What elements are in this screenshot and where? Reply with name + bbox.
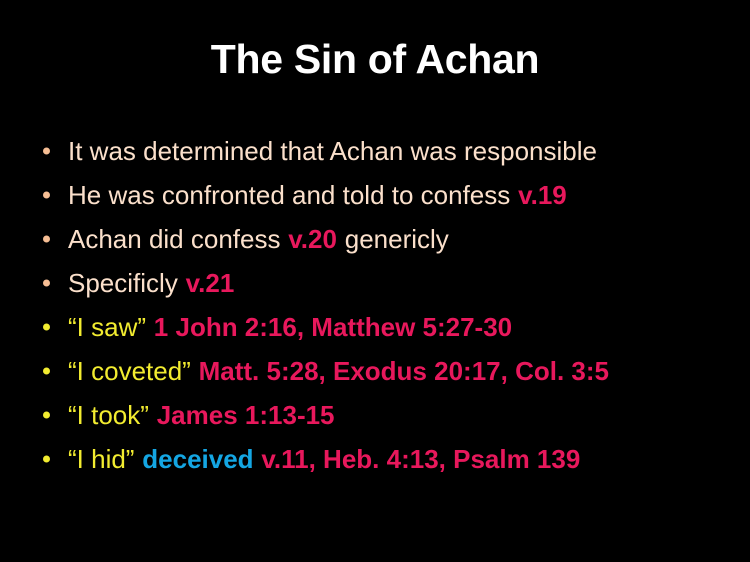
text-run-quote: “I coveted” [68, 356, 191, 386]
bullet-item: “I coveted” Matt. 5:28, Exodus 20:17, Co… [36, 349, 736, 393]
bullet-point-icon [43, 192, 50, 199]
bullet-item: “I hid” deceived v.11, Heb. 4:13, Psalm … [36, 437, 736, 481]
bullet-item: Achan did confess v.20 genericly [36, 217, 736, 261]
text-run-reference: Matt. 5:28, Exodus 20:17, Col. 3:5 [199, 356, 609, 386]
bullet-point-icon [43, 368, 50, 375]
text-run-body: He was confronted and told to confess [68, 180, 510, 210]
text-run-spacer [337, 224, 345, 254]
bullet-text: “I saw” 1 John 2:16, Matthew 5:27-30 [68, 312, 512, 342]
text-run-highlight: deceived [142, 444, 253, 474]
text-run-spacer [149, 400, 157, 430]
text-run-quote: “I saw” [68, 312, 146, 342]
bullet-item: Specificly v.21 [36, 261, 736, 305]
text-run-body: It was determined that Achan was respons… [68, 136, 597, 166]
text-run-body: genericly [345, 224, 449, 254]
bullet-list: It was determined that Achan was respons… [36, 129, 736, 481]
text-run-spacer [191, 356, 199, 386]
slide-title: The Sin of Achan [0, 34, 750, 84]
bullet-text: Achan did confess v.20 genericly [68, 224, 449, 254]
bullet-text: Specificly v.21 [68, 268, 234, 298]
bullet-point-icon [43, 236, 50, 243]
bullet-text: He was confronted and told to confess v.… [68, 180, 567, 210]
bullet-item: “I saw” 1 John 2:16, Matthew 5:27-30 [36, 305, 736, 349]
text-run-spacer [146, 312, 154, 342]
bullet-text: “I hid” deceived v.11, Heb. 4:13, Psalm … [68, 444, 580, 474]
bullet-item: “I took” James 1:13-15 [36, 393, 736, 437]
text-run-quote: “I hid” [68, 444, 134, 474]
text-run-reference: 1 John 2:16, Matthew 5:27-30 [154, 312, 512, 342]
bullet-item: He was confronted and told to confess v.… [36, 173, 736, 217]
bullet-item: It was determined that Achan was respons… [36, 129, 736, 173]
text-run-spacer [510, 180, 518, 210]
text-run-body: Achan did confess [68, 224, 280, 254]
bullet-point-icon [43, 148, 50, 155]
text-run-quote: “I took” [68, 400, 149, 430]
presentation-slide: The Sin of Achan It was determined that … [0, 0, 750, 562]
bullet-text: It was determined that Achan was respons… [68, 136, 597, 166]
bullet-point-icon [43, 280, 50, 287]
bullet-text: “I coveted” Matt. 5:28, Exodus 20:17, Co… [68, 356, 609, 386]
bullet-point-icon [43, 456, 50, 463]
text-run-reference: James 1:13-15 [157, 400, 335, 430]
text-run-reference: v.19 [518, 180, 567, 210]
bullet-point-icon [43, 412, 50, 419]
text-run-reference: v.11, Heb. 4:13, Psalm 139 [261, 444, 580, 474]
bullet-text: “I took” James 1:13-15 [68, 400, 335, 430]
text-run-body: Specificly [68, 268, 178, 298]
text-run-reference: v.20 [288, 224, 337, 254]
text-run-spacer [178, 268, 186, 298]
bullet-point-icon [43, 324, 50, 331]
text-run-reference: v.21 [186, 268, 235, 298]
